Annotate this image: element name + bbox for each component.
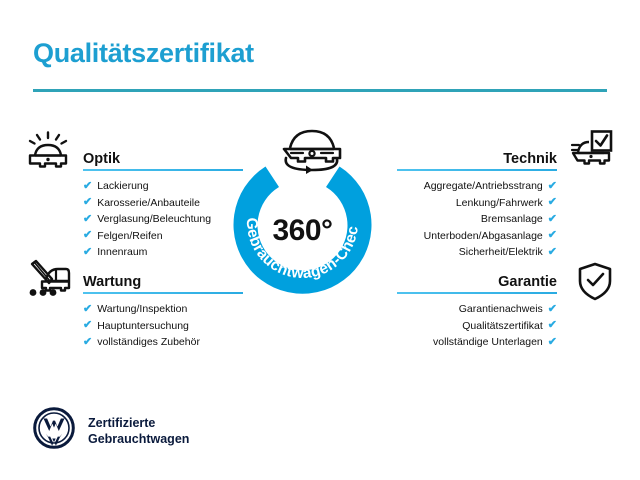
list-item-label: Hauptuntersuchung xyxy=(97,320,189,332)
section-underline xyxy=(397,169,557,171)
list-item-label: Lenkung/Fahrwerk xyxy=(456,197,543,209)
check-icon: ✔ xyxy=(83,230,92,241)
footer-branding: Zertifizierte Gebrauchtwagen xyxy=(33,407,189,454)
list-item: ✔Lackierung xyxy=(83,180,243,192)
list-item-label: Qualitätszertifikat xyxy=(462,320,543,332)
certificate-page: Qualitätszertifikat Optik ✔Lackierung ✔K… xyxy=(0,0,640,480)
section-garantie: Garantie Garantienachweis✔ Qualitätszert… xyxy=(397,268,557,348)
list-item-label: vollständige Unterlagen xyxy=(433,336,543,348)
check-icon: ✔ xyxy=(548,181,557,192)
section-header: Optik xyxy=(83,145,243,171)
page-title: Qualitätszertifikat xyxy=(33,38,254,69)
list-item: ✔Wartung/Inspektion xyxy=(83,303,243,315)
list-item-label: Unterboden/Abgasanlage xyxy=(424,230,543,242)
section-underline xyxy=(83,292,243,294)
section-title: Wartung xyxy=(83,274,141,290)
list-item: ✔Hauptuntersuchung xyxy=(83,320,243,332)
list-item: vollständige Unterlagen✔ xyxy=(433,336,557,348)
list-item-label: Bremsanlage xyxy=(481,213,543,225)
list-item-label: Karosserie/Anbauteile xyxy=(97,197,200,209)
check-icon: ✔ xyxy=(548,197,557,208)
check-icon: ✔ xyxy=(548,214,557,225)
list-item: ✔vollständiges Zubehör xyxy=(83,336,243,348)
check-icon: ✔ xyxy=(83,247,92,258)
list-item: Sicherheit/Elektrik✔ xyxy=(459,246,557,258)
check-icon: ✔ xyxy=(548,320,557,331)
shield-check-icon xyxy=(577,262,613,302)
footer-line-2: Gebrauchtwagen xyxy=(88,431,189,447)
check-icon: ✔ xyxy=(548,230,557,241)
section-underline xyxy=(83,169,243,171)
checklist: Garantienachweis✔ Qualitätszertifikat✔ v… xyxy=(397,303,557,348)
section-title: Technik xyxy=(503,151,557,167)
check-icon: ✔ xyxy=(83,197,92,208)
list-item: Qualitätszertifikat✔ xyxy=(462,320,557,332)
checklist: ✔Wartung/Inspektion ✔Hauptuntersuchung ✔… xyxy=(83,303,243,348)
list-item-label: Lackierung xyxy=(97,180,148,192)
section-header: Garantie xyxy=(397,268,557,294)
check-icon: ✔ xyxy=(548,304,557,315)
list-item: ✔Innenraum xyxy=(83,246,243,258)
car-rotate-icon xyxy=(277,122,347,179)
list-item: Aggregate/Antriebsstrang✔ xyxy=(424,180,557,192)
section-title: Garantie xyxy=(498,274,557,290)
list-item-label: vollständiges Zubehör xyxy=(97,336,200,348)
list-item-label: Garantienachweis xyxy=(459,303,543,315)
list-item: Unterboden/Abgasanlage✔ xyxy=(424,230,557,242)
vw-logo-icon xyxy=(33,407,75,454)
section-optik: Optik ✔Lackierung ✔Karosserie/Anbauteile… xyxy=(83,145,243,258)
list-item-label: Felgen/Reifen xyxy=(97,230,162,242)
car-wrench-icon xyxy=(26,259,72,299)
list-item-label: Sicherheit/Elektrik xyxy=(459,246,543,258)
check-icon: ✔ xyxy=(83,337,92,348)
list-item: Lenkung/Fahrwerk✔ xyxy=(456,197,557,209)
check-icon: ✔ xyxy=(83,181,92,192)
check-icon: ✔ xyxy=(83,304,92,315)
section-wartung: Wartung ✔Wartung/Inspektion ✔Hauptunters… xyxy=(83,268,243,348)
car-checkbox-icon xyxy=(570,130,616,170)
section-technik: Technik Aggregate/Antriebsstrang✔ Lenkun… xyxy=(397,145,557,258)
list-item-label: Aggregate/Antriebsstrang xyxy=(424,180,543,192)
section-underline xyxy=(397,292,557,294)
list-item: ✔Felgen/Reifen xyxy=(83,230,243,242)
check-icon: ✔ xyxy=(548,247,557,258)
check-icon: ✔ xyxy=(83,214,92,225)
check-icon: ✔ xyxy=(83,320,92,331)
footer-text: Zertifizierte Gebrauchtwagen xyxy=(88,415,189,447)
list-item-label: Wartung/Inspektion xyxy=(97,303,187,315)
list-item: Bremsanlage✔ xyxy=(481,213,557,225)
section-header: Wartung xyxy=(83,268,243,294)
checklist: Aggregate/Antriebsstrang✔ Lenkung/Fahrwe… xyxy=(397,180,557,258)
check-icon: ✔ xyxy=(548,337,557,348)
checklist: ✔Lackierung ✔Karosserie/Anbauteile ✔Verg… xyxy=(83,180,243,258)
section-header: Technik xyxy=(397,145,557,171)
list-item-label: Innenraum xyxy=(97,246,147,258)
list-item-label: Verglasung/Beleuchtung xyxy=(97,213,211,225)
footer-line-1: Zertifizierte xyxy=(88,415,189,431)
car-shine-icon xyxy=(26,131,70,169)
title-divider xyxy=(33,89,607,92)
list-item: Garantienachweis✔ xyxy=(459,303,557,315)
list-item: ✔Karosserie/Anbauteile xyxy=(83,197,243,209)
list-item: ✔Verglasung/Beleuchtung xyxy=(83,213,243,225)
section-title: Optik xyxy=(83,151,120,167)
